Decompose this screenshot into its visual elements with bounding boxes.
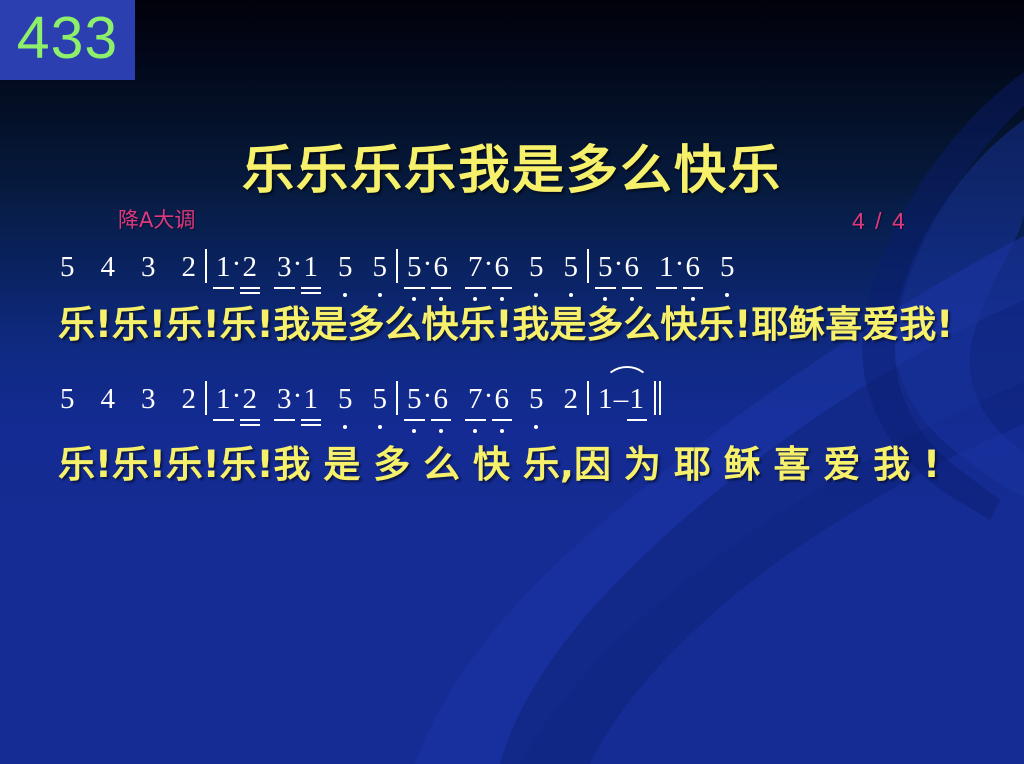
note: 6 (495, 253, 510, 282)
time-signature: 4 / 4 (852, 208, 907, 235)
note: 5 (60, 385, 75, 414)
augmentation-dot: · (422, 380, 434, 413)
note: 3 (277, 253, 292, 282)
note: 5 (564, 253, 579, 282)
augmentation-dot: · (292, 248, 304, 281)
note-digit: 4 (101, 253, 116, 282)
notation-line-1: 54321·23·1555·67·6555·61·65 (60, 240, 964, 294)
hymn-number-badge: 433 (0, 0, 135, 80)
note: 7 (468, 385, 483, 414)
key-signature: 降A大调 (118, 204, 195, 234)
note-digit: 2 (182, 385, 197, 414)
note-digit: 6 (686, 253, 701, 282)
note: 1 (304, 385, 319, 414)
lyrics-line-1: 乐!乐!乐!乐!我是多么快乐!我是多么快乐!耶稣喜爱我! (58, 294, 953, 348)
tied-final-notes: 1–1 (598, 383, 644, 416)
tie-dash: – (613, 383, 630, 416)
low-octave-dot (343, 425, 347, 429)
final-double-barline (654, 381, 663, 415)
note-digit: 2 (564, 385, 579, 414)
note: 5 (407, 385, 422, 414)
note-digit: 5 (60, 253, 75, 282)
note-digit: 5 (407, 385, 422, 414)
note: 2 (243, 385, 258, 414)
augmentation-dot: · (613, 248, 625, 281)
note: 5 (373, 385, 388, 414)
note: 2 (243, 253, 258, 282)
note: 6 (434, 253, 449, 282)
note: 1 (216, 253, 231, 282)
note-digit: 1 (304, 385, 319, 414)
augmentation-dot: · (483, 248, 495, 281)
barline (205, 249, 207, 283)
low-octave-dot (439, 429, 443, 433)
note-digit: 5 (564, 253, 579, 282)
note-digit: 5 (529, 253, 544, 282)
note-digit: 1 (630, 385, 645, 414)
note: 4 (101, 253, 116, 282)
note-digit: 5 (338, 385, 353, 414)
note-digit: 1 (659, 253, 674, 282)
low-octave-dot (500, 429, 504, 433)
note: 3 (141, 385, 156, 414)
note-digit: 6 (495, 385, 510, 414)
low-octave-dot (473, 429, 477, 433)
note: 5 (598, 253, 613, 282)
augmentation-dot: · (422, 248, 434, 281)
note-digit: 5 (529, 385, 544, 414)
note-digit: 5 (598, 253, 613, 282)
low-octave-dot (534, 425, 538, 429)
augmentation-dot: · (674, 248, 686, 281)
note: 6 (434, 385, 449, 414)
note-digit: 1 (216, 253, 231, 282)
low-octave-dot (378, 425, 382, 429)
note-digit: 7 (468, 253, 483, 282)
note-digit: 2 (243, 253, 258, 282)
barline (587, 381, 589, 415)
note: 1 (304, 253, 319, 282)
notation-line-2: 54321·23·1555·67·6521–1 (60, 372, 964, 426)
note-digit: 5 (720, 253, 735, 282)
note-digit: 3 (277, 385, 292, 414)
note-digit: 2 (182, 253, 197, 282)
note: 5 (60, 253, 75, 282)
hymn-number: 433 (17, 9, 118, 72)
note: 7 (468, 253, 483, 282)
note-digit: 5 (407, 253, 422, 282)
note-digit: 1 (216, 385, 231, 414)
note: 1 (598, 385, 613, 414)
page-title: 乐乐乐乐我是多么快乐 (0, 128, 1024, 203)
note-digit: 5 (373, 385, 388, 414)
note-digit: 7 (468, 385, 483, 414)
note: 5 (338, 385, 353, 414)
note-digit: 6 (625, 253, 640, 282)
note: 3 (277, 385, 292, 414)
augmentation-dot: · (231, 248, 243, 281)
note-digit: 3 (277, 253, 292, 282)
note: 1 (659, 253, 674, 282)
note-digit: 6 (434, 253, 449, 282)
note: 2 (564, 385, 579, 414)
note: 6 (625, 253, 640, 282)
note: 1 (216, 385, 231, 414)
note: 5 (720, 253, 735, 282)
lyrics-line-2: 乐!乐!乐!乐!我 是 多 么 快 乐,因 为 耶 稣 喜 爱 我 ! (58, 434, 940, 488)
note: 5 (373, 253, 388, 282)
note-digit: 1 (598, 385, 613, 414)
note: 6 (686, 253, 701, 282)
note-digit: 4 (101, 385, 116, 414)
note-digit: 3 (141, 385, 156, 414)
note: 2 (182, 253, 197, 282)
note-digit: 2 (243, 385, 258, 414)
note: 5 (529, 385, 544, 414)
note: 4 (101, 385, 116, 414)
note-digit: 3 (141, 253, 156, 282)
note-digit: 5 (373, 253, 388, 282)
note-digit: 5 (60, 385, 75, 414)
barline (587, 249, 589, 283)
note: 6 (495, 385, 510, 414)
note-digit: 1 (304, 253, 319, 282)
note: 5 (338, 253, 353, 282)
augmentation-dot: · (292, 380, 304, 413)
barline (396, 249, 398, 283)
note: 3 (141, 253, 156, 282)
note: 1 (630, 385, 645, 414)
note: 5 (529, 253, 544, 282)
barline (396, 381, 398, 415)
note: 5 (407, 253, 422, 282)
note-digit: 6 (434, 385, 449, 414)
note-digit: 6 (495, 253, 510, 282)
barline (205, 381, 207, 415)
note-digit: 5 (338, 253, 353, 282)
low-octave-dot (412, 429, 416, 433)
augmentation-dot: · (231, 380, 243, 413)
note: 2 (182, 385, 197, 414)
augmentation-dot: · (483, 380, 495, 413)
